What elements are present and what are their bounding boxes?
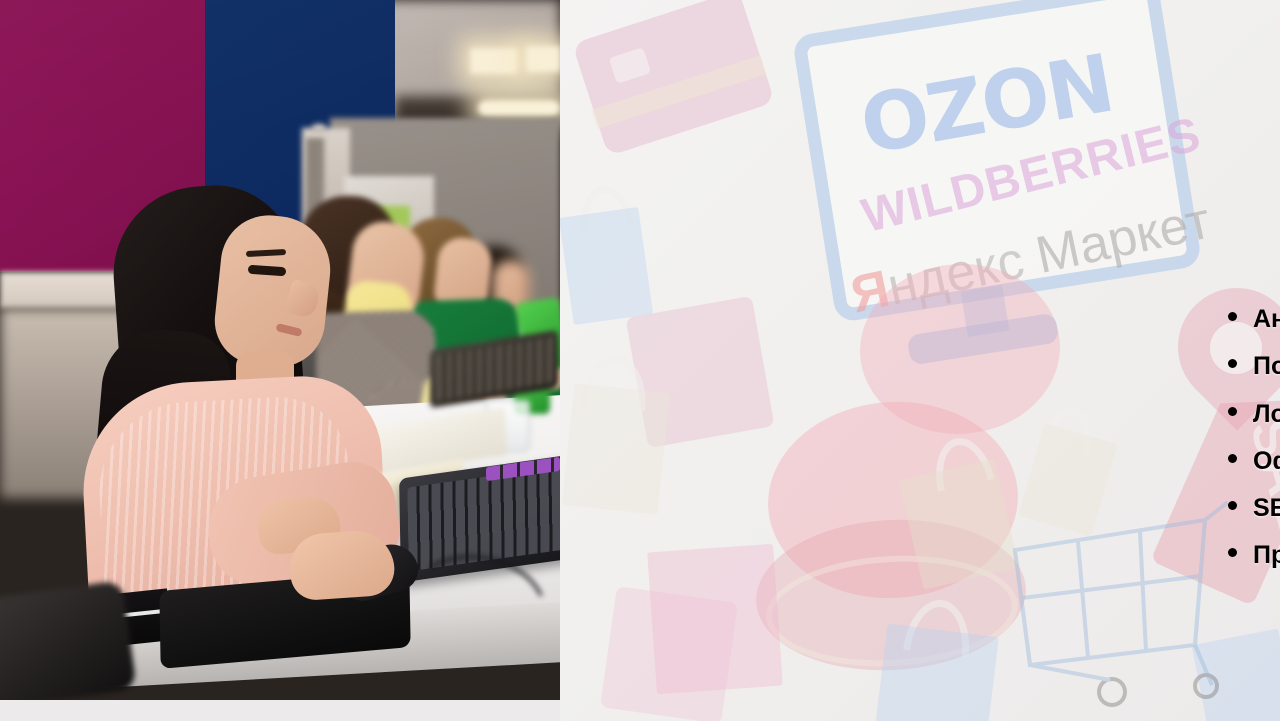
list-item: Продвижение и реклама xyxy=(1228,542,1280,568)
list-item-label: Подсчет юнит- экономики xyxy=(1253,353,1280,379)
bullet-dot-icon xyxy=(1228,407,1237,416)
slide-heading: ВАМ БОЛЬШЕ НЕ ПРИДЕТСЯ ТРАТИТЬ ВРЕМЯ И Р… xyxy=(1188,22,1280,206)
content-panel: OZON WILDBERRIES Яндекс Маркет SALE xyxy=(560,0,1280,721)
list-item: Подсчет юнит- экономики xyxy=(1228,353,1280,379)
list-item-label: SEO xyxy=(1253,495,1280,521)
list-item: SEO xyxy=(1228,495,1280,521)
list-item-label: Логистика xyxy=(1253,401,1280,427)
list-item-label: Оформление карточки товара xyxy=(1253,448,1280,474)
shopping-cart-icon xyxy=(960,480,1260,710)
photo-bottom-strip xyxy=(0,700,560,721)
bullet-dot-icon xyxy=(1228,548,1237,557)
list-item-label: Продвижение и реклама xyxy=(1253,542,1280,568)
shopping-bag-cream-icon xyxy=(562,383,670,514)
office-photo xyxy=(0,0,560,700)
bullet-dot-icon xyxy=(1228,359,1237,368)
list-item: Оформление карточки товара xyxy=(1228,448,1280,474)
services-list: Аналитика Подсчет юнит- экономики Логист… xyxy=(1228,306,1280,590)
bullet-dot-icon xyxy=(1228,501,1237,510)
bullet-dot-icon xyxy=(1228,312,1237,321)
list-item: Аналитика xyxy=(1228,306,1280,332)
shopping-bag-pink-icon xyxy=(647,544,783,694)
list-item: Логистика xyxy=(1228,401,1280,427)
shopping-bag-blue-icon xyxy=(560,207,653,325)
slide-root: OZON WILDBERRIES Яндекс Маркет SALE xyxy=(0,0,1280,721)
bullet-dot-icon xyxy=(1228,454,1237,463)
photo-overlay xyxy=(0,0,560,700)
list-item-label: Аналитика xyxy=(1253,306,1280,332)
